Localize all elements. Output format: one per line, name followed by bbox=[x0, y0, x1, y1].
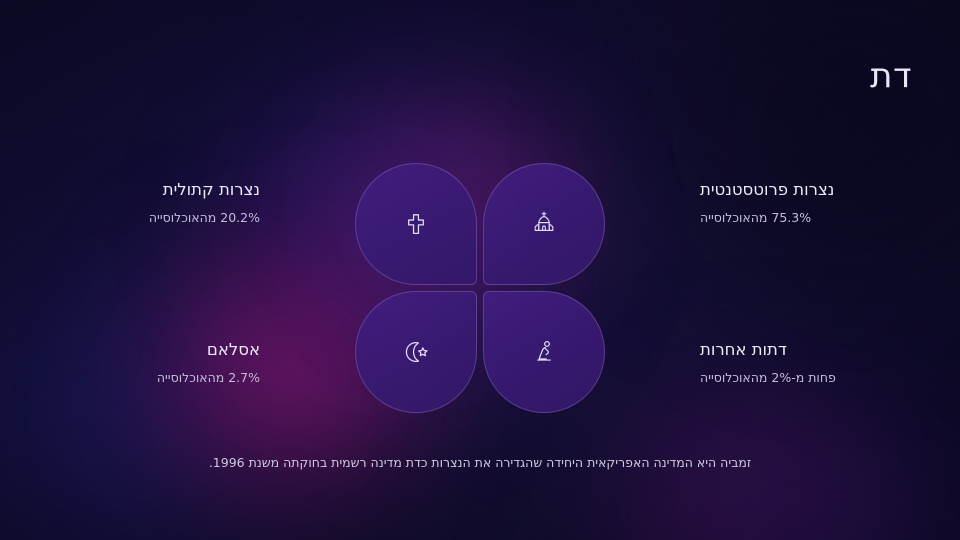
label-islam-title: אסלאם bbox=[0, 340, 260, 361]
slide-root: דת bbox=[0, 0, 960, 540]
label-islam: אסלאם 2.7% מהאוכלוסייה bbox=[0, 340, 260, 386]
label-protestant-title: נצרות פרוטסטנטית bbox=[700, 180, 960, 201]
label-catholic: נצרות קתולית 20.2% מהאוכלוסייה bbox=[0, 180, 260, 226]
label-protestant: נצרות פרוטסטנטית 75.3% מהאוכלוסייה bbox=[700, 180, 960, 226]
petal-protestant[interactable] bbox=[483, 163, 605, 285]
petal-catholic[interactable] bbox=[355, 163, 477, 285]
label-catholic-value: 20.2% מהאוכלוסייה bbox=[0, 210, 260, 226]
page-title: דת bbox=[870, 58, 912, 95]
petal-islam[interactable] bbox=[355, 291, 477, 413]
slide-footnote: זמביה היא המדינה האפריקאית היחידה שהגדיר… bbox=[0, 455, 960, 472]
label-other-title: דתות אחרות bbox=[700, 340, 960, 361]
label-islam-value: 2.7% מהאוכלוסייה bbox=[0, 370, 260, 386]
crescent-star-icon bbox=[401, 337, 431, 367]
label-protestant-value: 75.3% מהאוכלוסייה bbox=[700, 210, 960, 226]
religion-petal-cluster bbox=[355, 163, 605, 413]
label-other-religions: דתות אחרות פחות מ-2% מהאוכלוסייה bbox=[700, 340, 960, 386]
latin-cross-icon bbox=[401, 209, 431, 239]
label-other-value: פחות מ-2% מהאוכלוסייה bbox=[700, 370, 960, 386]
petal-other-religions[interactable] bbox=[483, 291, 605, 413]
praying-person-icon bbox=[529, 337, 559, 367]
label-catholic-title: נצרות קתולית bbox=[0, 180, 260, 201]
church-building-icon bbox=[529, 209, 559, 239]
